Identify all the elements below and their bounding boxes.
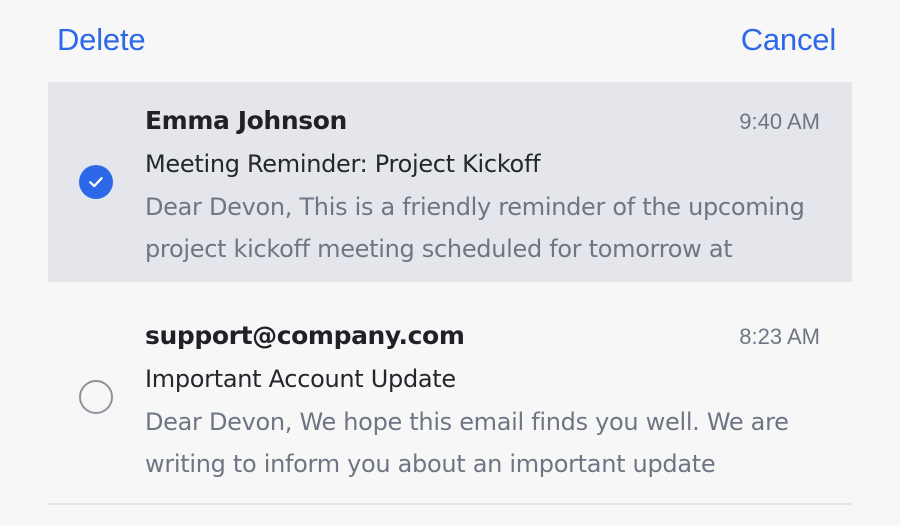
message-header-line: Emma Johnson 9:40 AM: [145, 104, 820, 140]
selection-toolbar: Delete Cancel: [0, 0, 900, 82]
list-divider: [48, 503, 852, 505]
circle-outline-icon[interactable]: [79, 380, 113, 414]
preview-text: Dear Devon, This is a friendly reminder …: [145, 186, 813, 272]
preview-text: Dear Devon, We hope this email finds you…: [145, 401, 813, 487]
message-content: Emma Johnson 9:40 AM Meeting Reminder: P…: [145, 104, 820, 272]
timestamp: 9:40 AM: [739, 106, 820, 138]
timestamp: 8:23 AM: [739, 321, 820, 353]
subject-line: Meeting Reminder: Project Kickoff: [145, 148, 820, 180]
cancel-button[interactable]: Cancel: [741, 24, 836, 55]
sender-name: support@company.com: [145, 319, 464, 353]
message-header-line: support@company.com 8:23 AM: [145, 319, 820, 355]
message-list: Emma Johnson 9:40 AM Meeting Reminder: P…: [0, 82, 900, 497]
delete-button[interactable]: Delete: [57, 24, 145, 55]
sender-name: Emma Johnson: [145, 104, 347, 138]
message-list-item[interactable]: support@company.com 8:23 AM Important Ac…: [48, 297, 852, 497]
check-circle-filled-icon[interactable]: [79, 165, 113, 199]
subject-line: Important Account Update: [145, 363, 820, 395]
message-content: support@company.com 8:23 AM Important Ac…: [145, 319, 820, 487]
message-list-item[interactable]: Emma Johnson 9:40 AM Meeting Reminder: P…: [48, 82, 852, 282]
